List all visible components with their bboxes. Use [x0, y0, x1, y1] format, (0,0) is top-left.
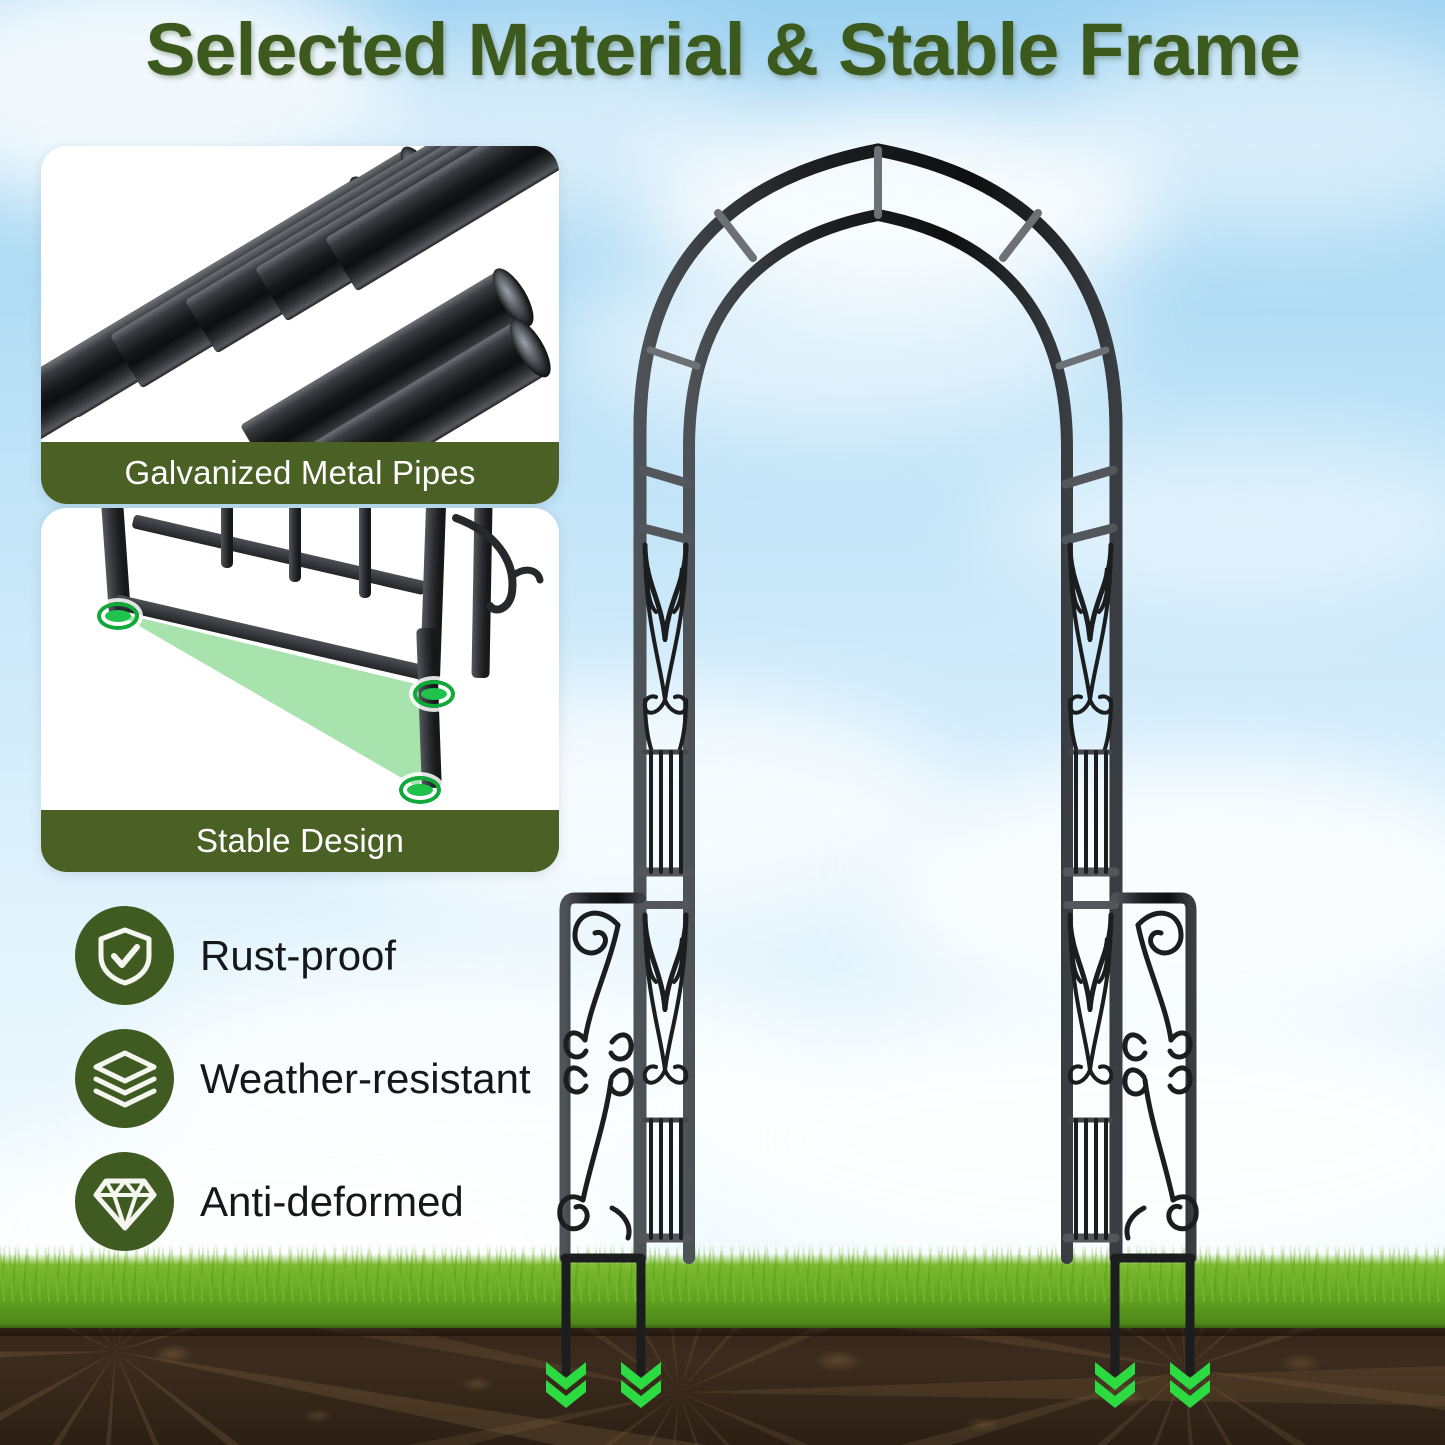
- feature-label: Anti-deformed: [200, 1178, 464, 1226]
- feature-item-anti-deformed: Anti-deformed: [75, 1152, 464, 1251]
- feature-item-weather-resistant: Weather-resistant: [75, 1029, 531, 1128]
- feature-card-stable: Stable Design: [41, 508, 559, 872]
- right-scroll-wing: [1116, 898, 1196, 1258]
- feature-item-rust-proof: Rust-proof: [75, 906, 396, 1005]
- right-leg-panel: [1066, 470, 1115, 1238]
- stake-direction-arrows: [546, 1362, 1210, 1408]
- metal-pipe: [325, 146, 559, 292]
- card-caption-label: Galvanized Metal Pipes: [41, 442, 559, 504]
- base-picket: [359, 508, 371, 598]
- diamond-icon: [75, 1152, 174, 1251]
- arch-strut-right: [1003, 213, 1038, 258]
- stable-base-diagram: [41, 508, 559, 810]
- arch-outer-rail-right: [640, 150, 1116, 1258]
- left-leg-panel: [641, 470, 690, 1238]
- left-scroll-wing: [560, 898, 640, 1258]
- arch-outer-rail-left: [640, 150, 1116, 1258]
- feature-card-pipes: Galvanized Metal Pipes: [41, 146, 559, 504]
- contact-point-highlight: [97, 602, 139, 630]
- base-picket: [221, 508, 233, 568]
- page-title: Selected Material & Stable Frame: [0, 13, 1445, 87]
- feature-label: Weather-resistant: [200, 1055, 531, 1103]
- contact-point-highlight: [399, 776, 441, 804]
- shield-check-icon: [75, 906, 174, 1005]
- base-picket: [289, 508, 301, 582]
- layers-icon: [75, 1029, 174, 1128]
- arch-strut-left-low: [650, 350, 697, 366]
- base-scroll-detail: [446, 514, 556, 644]
- card-caption-label: Stable Design: [41, 810, 559, 872]
- contact-point-highlight: [413, 680, 455, 708]
- product-feature-banner: Selected Material & Stable Frame Galvani…: [0, 0, 1445, 1445]
- galvanized-pipes-photo: [41, 146, 559, 442]
- arch-strut-left: [718, 213, 753, 258]
- feature-label: Rust-proof: [200, 932, 396, 980]
- arch-inner-rail: [689, 215, 1067, 1258]
- arch-strut-right-low: [1059, 350, 1106, 366]
